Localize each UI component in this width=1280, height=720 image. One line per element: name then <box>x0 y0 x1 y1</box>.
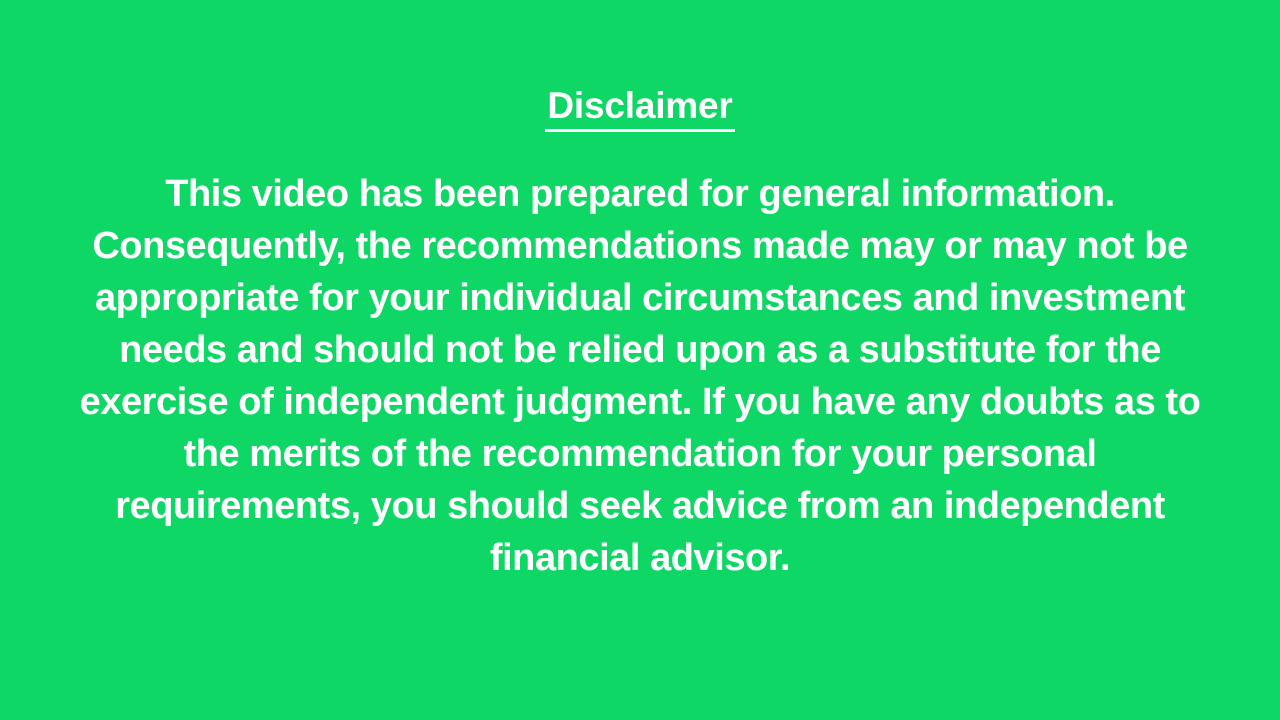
body-line: Consequently, the recommendations made m… <box>18 220 1262 272</box>
disclaimer-slide: Disclaimer This video has been prepared … <box>0 0 1280 720</box>
body-line: needs and should not be relied upon as a… <box>18 324 1262 376</box>
body-line: exercise of independent judgment. If you… <box>18 376 1262 428</box>
body-line: financial advisor. <box>18 532 1262 584</box>
title-block: Disclaimer <box>0 62 1280 156</box>
body-line: the merits of the recommendation for you… <box>18 428 1262 480</box>
body-line: This video has been prepared for general… <box>18 168 1262 220</box>
page-title: Disclaimer <box>545 87 734 132</box>
disclaimer-body: This video has been prepared for general… <box>18 168 1262 584</box>
body-line: appropriate for your individual circumst… <box>18 272 1262 324</box>
body-line: requirements, you should seek advice fro… <box>18 480 1262 532</box>
